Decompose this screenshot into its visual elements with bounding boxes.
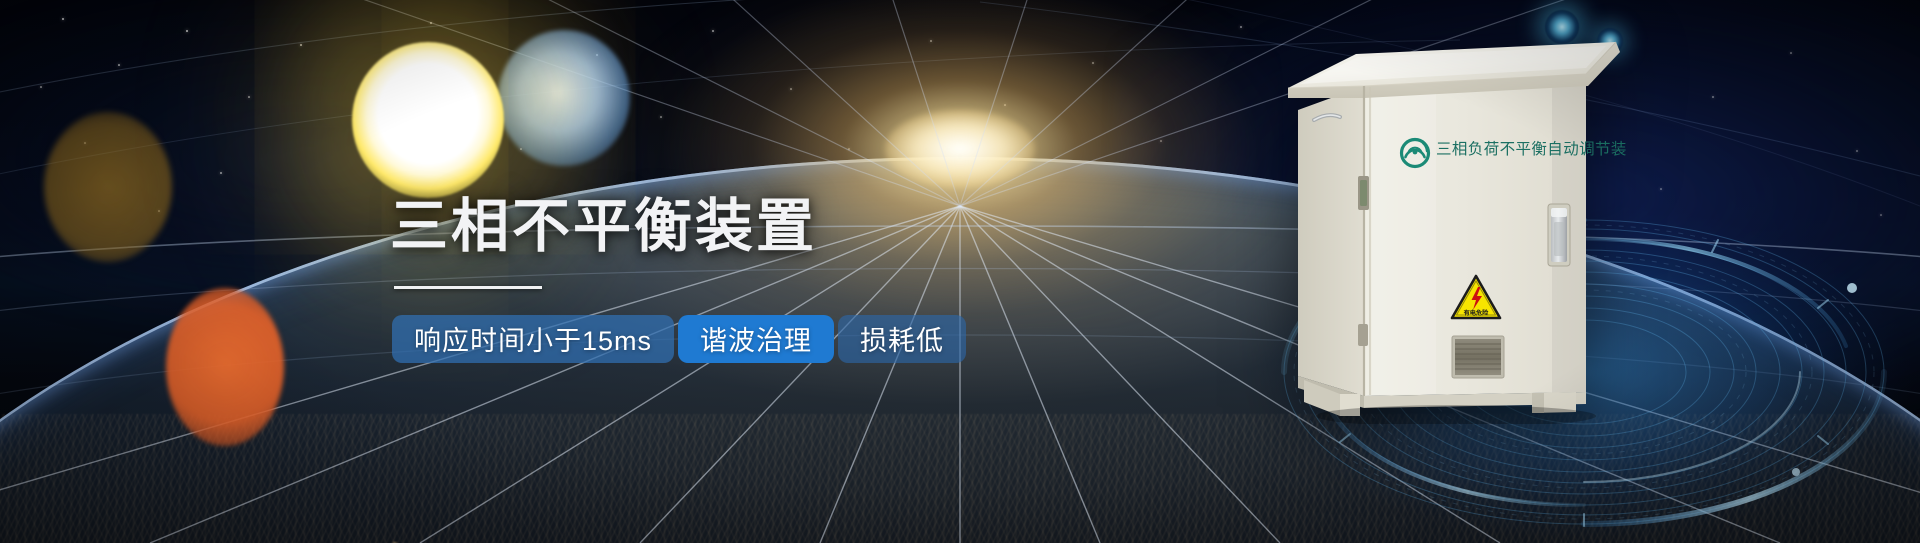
feature-tag-list: 响应时间小于15ms 谐波治理 损耗低 [392, 315, 1130, 363]
sun-core [885, 110, 1035, 188]
terrain-speckle [0, 414, 1920, 543]
page-title: 三相不平衡装置 [390, 196, 1130, 259]
product-cabinet: 三相负荷不平衡自动调节装置 有电危险 [1286, 24, 1626, 424]
hero-banner: 三相负荷不平衡自动调节装置 有电危险 [0, 0, 1920, 543]
warning-sticker-text: 有电危险 [1464, 309, 1490, 317]
door-handle-icon [1548, 204, 1570, 266]
feature-tag-low-loss[interactable]: 损耗低 [838, 315, 966, 363]
hero-copy: 三相不平衡装置 响应时间小于15ms 谐波治理 损耗低 [390, 196, 1130, 363]
feature-tag-response-time[interactable]: 响应时间小于15ms [392, 315, 674, 363]
vent-grille-icon [1452, 336, 1504, 378]
title-divider [394, 286, 542, 289]
cabinet-product-name: 三相负荷不平衡自动调节装置 [1436, 140, 1626, 158]
feature-tag-harmonic[interactable]: 谐波治理 [678, 315, 834, 363]
